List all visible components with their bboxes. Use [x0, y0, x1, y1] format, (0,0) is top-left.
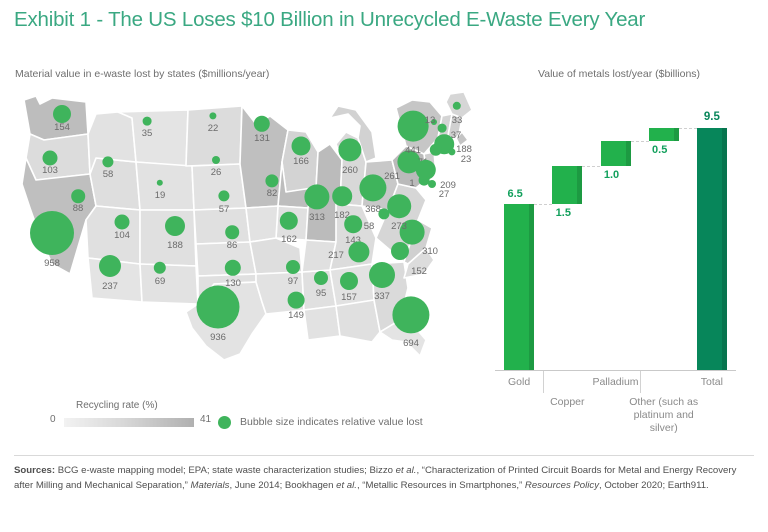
sources-italic-2: Materials — [191, 480, 230, 491]
state-bubble-label-wi: 166 — [293, 156, 309, 167]
waterfall-category-2: Palladium — [592, 376, 638, 388]
waterfall-bar-1[interactable] — [552, 166, 582, 204]
state-bubble-label-ms: 95 — [316, 288, 327, 299]
sources-text-1: BCG e-waste mapping model; EPA; state wa… — [55, 465, 396, 476]
state-bubble-label-md: 209 — [440, 180, 456, 191]
state-bubble-sc[interactable] — [391, 242, 409, 260]
state-bubble-ky[interactable] — [344, 215, 362, 233]
waterfall-bar-0[interactable] — [504, 204, 534, 370]
state-bubble-label-tx: 936 — [210, 332, 226, 343]
state-bubble-wa[interactable] — [53, 105, 71, 123]
sources-italic-3: et al. — [336, 480, 357, 491]
state-bubble-wi[interactable] — [292, 137, 311, 156]
state-bubble-label-ia: 82 — [267, 188, 278, 199]
state-bubble-label-mo: 162 — [281, 234, 297, 245]
state-bubble-label-al: 157 — [341, 292, 357, 303]
state-bubble-label-id: 58 — [103, 169, 114, 180]
sources-label: Sources: — [14, 465, 55, 476]
map-legend: Recycling rate (%) 0 41 Bubble size indi… — [0, 398, 490, 440]
sources-divider — [14, 455, 754, 456]
waterfall-bar-2[interactable] — [601, 141, 631, 166]
waterfall-category-3: Other (such as platinum and silver) — [624, 396, 704, 435]
state-bubble-label-sc: 152 — [411, 266, 427, 277]
state-bubble-label-va: 273 — [391, 221, 407, 232]
recycling-rate-max-label: 41 — [200, 414, 211, 425]
state-bubble-de[interactable] — [428, 180, 436, 188]
state-bubble-label-ut: 104 — [114, 230, 130, 241]
sources-note: Sources: BCG e-waste mapping model; EPA;… — [14, 464, 756, 494]
state-bubble-label-fl: 694 — [403, 338, 419, 349]
sources-italic-4: Resources Policy — [525, 480, 599, 491]
state-bubble-label-mn: 131 — [254, 133, 270, 144]
state-bubble-label-ar: 97 — [288, 276, 299, 287]
waterfall-axis-tick-1 — [640, 371, 641, 393]
state-bubble-nv[interactable] — [71, 189, 85, 203]
waterfall-chart: 6.51.51.00.59.5 GoldCopperPalladiumOther… — [495, 88, 753, 388]
waterfall-subtitle: Value of metals lost/year ($billions) — [538, 68, 700, 80]
state-bubble-mt[interactable] — [143, 117, 152, 126]
waterfall-value-label-2: 1.0 — [604, 169, 619, 181]
waterfall-value-label-1: 1.5 — [556, 207, 571, 219]
waterfall-category-4: Total — [701, 376, 723, 388]
state-bubble-label-vt: 13 — [425, 115, 436, 126]
state-bubble-or[interactable] — [43, 151, 58, 166]
sources-text-3: , June 2014; Bookhagen — [229, 480, 336, 491]
waterfall-value-label-4: 9.5 — [704, 111, 720, 123]
state-bubble-label-wa: 154 — [54, 122, 70, 133]
state-bubble-label-co: 188 — [167, 240, 183, 251]
state-bubble-label-nv: 88 — [73, 203, 84, 214]
state-bubble-ms[interactable] — [314, 271, 328, 285]
state-bubble-ut[interactable] — [115, 215, 130, 230]
state-bubble-label-ne: 57 — [219, 204, 230, 215]
state-bubble-label-wv: 58 — [364, 221, 375, 232]
map-subtitle: Material value in e-waste lost by states… — [15, 68, 269, 80]
state-bubble-label-nc: 310 — [422, 246, 438, 257]
waterfall-value-label-3: 0.5 — [652, 144, 667, 156]
state-bubble-label-il: 313 — [309, 212, 325, 223]
state-bubble-label-tn: 217 — [328, 250, 344, 261]
sources-italic-1: et al. — [396, 465, 417, 476]
state-bubble-label-nm: 69 — [155, 276, 166, 287]
waterfall-bar-4[interactable] — [697, 128, 727, 370]
state-bubble-label-mi: 260 — [342, 165, 358, 176]
state-bubble-label-la: 149 — [288, 310, 304, 321]
state-bubble-ca[interactable] — [30, 211, 74, 255]
sources-text-5: , October 2020; Earth911. — [599, 480, 709, 491]
sources-text-4: , “Metallic Resources in Smartphones,” — [357, 480, 525, 491]
state-bubble-label-sd: 26 — [211, 167, 222, 178]
state-bubble-nh[interactable] — [438, 124, 447, 133]
state-bubble-label-ri: 23 — [461, 154, 472, 165]
waterfall-category-0: Gold — [508, 376, 530, 388]
waterfall-connector-3 — [679, 128, 697, 129]
state-bubble-tx[interactable] — [197, 286, 240, 329]
recycling-rate-legend-title: Recycling rate (%) — [76, 400, 158, 411]
state-bubble-label-ga: 337 — [374, 291, 390, 302]
waterfall-connector-1 — [582, 166, 600, 167]
state-bubble-sd[interactable] — [212, 156, 220, 164]
state-bubble-label-pa: 261 — [384, 171, 400, 182]
bubble-legend-note: Bubble size indicates relative value los… — [240, 416, 423, 428]
state-bubble-az[interactable] — [99, 255, 121, 277]
state-bubble-va[interactable] — [387, 194, 411, 218]
state-bubble-label-ny: 441 — [405, 145, 421, 156]
state-bubble-label-nd: 22 — [208, 123, 219, 134]
state-bubble-co[interactable] — [165, 216, 185, 236]
us-choropleth-bubble-map: 1541038895858351910418823769222657861309… — [0, 88, 490, 398]
waterfall-connector-0 — [534, 204, 552, 205]
state-bubble-label-me: 33 — [452, 115, 463, 126]
waterfall-value-label-0: 6.5 — [507, 188, 522, 200]
state-bubble-in[interactable] — [332, 186, 352, 206]
state-bubble-label-az: 237 — [102, 281, 118, 292]
state-bubble-label-nj: 1 — [409, 178, 414, 189]
state-bubble-ks[interactable] — [225, 225, 239, 239]
state-bubble-label-mt: 35 — [142, 128, 153, 139]
state-bubble-la[interactable] — [288, 292, 305, 309]
waterfall-bar-3[interactable] — [649, 128, 679, 141]
state-bubble-label-or: 103 — [42, 165, 58, 176]
state-bubble-ar[interactable] — [286, 260, 300, 274]
waterfall-axis-line — [495, 370, 736, 371]
state-bubble-al[interactable] — [340, 272, 358, 290]
state-bubble-ga[interactable] — [369, 262, 395, 288]
recycling-rate-min-label: 0 — [50, 414, 56, 425]
waterfall-connector-2 — [631, 141, 649, 142]
recycling-rate-gradient-bar — [64, 418, 194, 427]
state-bubble-label-ks: 86 — [227, 240, 238, 251]
waterfall-axis-tick-0 — [543, 371, 544, 393]
bubble-legend-dot-icon — [218, 416, 231, 429]
state-bubble-label-wy: 19 — [155, 190, 166, 201]
waterfall-category-1: Copper — [550, 396, 584, 408]
state-bubble-label-ca: 958 — [44, 258, 60, 269]
page-title: Exhibit 1 - The US Loses $10 Billion in … — [14, 8, 645, 32]
